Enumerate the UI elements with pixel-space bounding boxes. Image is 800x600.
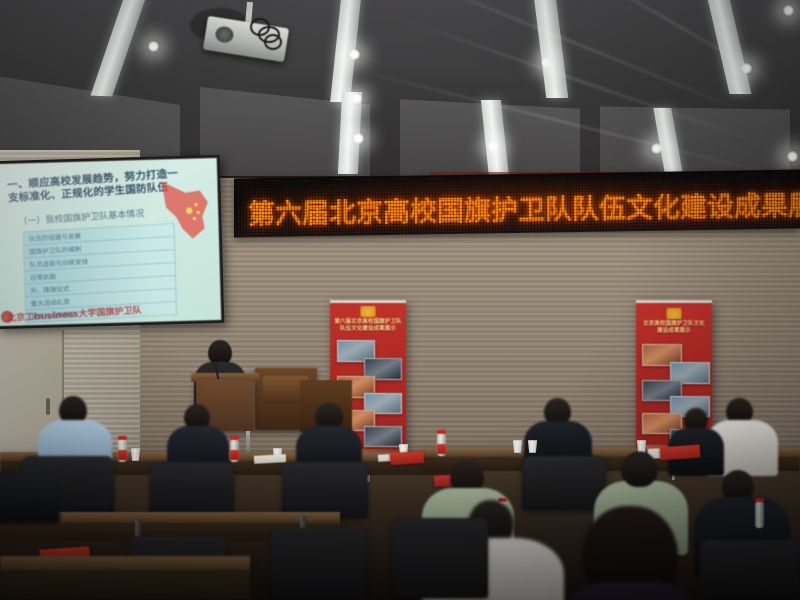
office-chair bbox=[522, 456, 606, 510]
ceiling-light-strip bbox=[534, 0, 569, 98]
person-head bbox=[622, 452, 657, 487]
banner-title: 北京高校国旗护卫队文化建设成果展示 bbox=[640, 321, 708, 335]
ceiling-downlight bbox=[348, 48, 361, 61]
conference-table-foreground bbox=[0, 556, 250, 572]
banner-top-rail bbox=[330, 300, 406, 303]
name-card bbox=[390, 451, 425, 465]
projection-screen-frame: 一、顺应高校发展趋势，努力打造一支标准化、正规化的学生国防队伍 （一）我校国旗护… bbox=[0, 155, 224, 329]
office-chair bbox=[150, 462, 234, 516]
office-chair bbox=[282, 462, 368, 518]
document-sheet bbox=[254, 454, 286, 464]
banner-emblem-icon bbox=[667, 308, 682, 319]
projector-lens bbox=[214, 25, 234, 44]
china-flag-map-icon bbox=[155, 176, 213, 244]
water-bottle bbox=[755, 502, 764, 528]
office-chair bbox=[392, 518, 488, 598]
ceiling-downlight bbox=[487, 140, 500, 153]
banner-emblem-icon bbox=[361, 306, 376, 317]
microphone-icon bbox=[212, 362, 218, 367]
bottle-label bbox=[230, 450, 239, 460]
ceiling-light-strip bbox=[90, 0, 147, 96]
ceiling-downlight bbox=[350, 92, 363, 105]
door-handle-icon[interactable] bbox=[46, 398, 50, 415]
bottle-label bbox=[118, 450, 127, 460]
slide-row-label: 日常执勤 bbox=[30, 271, 57, 282]
person-torso bbox=[0, 470, 60, 524]
name-card bbox=[660, 445, 701, 461]
banner-title: 第六届北京高校国旗护卫队队伍文化建设成果展示 bbox=[334, 319, 402, 333]
projector-cable bbox=[264, 34, 282, 50]
office-chair bbox=[270, 528, 366, 600]
led-banner: 第六届北京高校国旗护卫队队伍文化建设成果展示 bbox=[234, 170, 800, 238]
office-chair bbox=[700, 540, 800, 600]
projection-screen: 一、顺应高校发展趋势，努力打造一支标准化、正规化的学生国防队伍 （一）我校国旗护… bbox=[0, 158, 221, 326]
ceiling-downlight bbox=[782, 4, 795, 17]
ceiling-downlight bbox=[352, 132, 365, 145]
led-pixel-grid bbox=[234, 173, 800, 238]
ceiling-downlight bbox=[786, 150, 799, 163]
ceiling-downlight bbox=[147, 40, 160, 53]
banner-top-rail bbox=[636, 300, 712, 303]
conference-hall-photo: 第六届北京高校国旗护卫队队伍文化建设成果展示 一、顺应高校发展趋势，努力打造一支… bbox=[0, 0, 800, 600]
name-card-text bbox=[393, 454, 422, 456]
name-card-text bbox=[663, 448, 698, 450]
bottle-label bbox=[437, 444, 446, 454]
banner-photo bbox=[364, 426, 402, 447]
name-card-text bbox=[42, 549, 87, 552]
table-front-panel bbox=[0, 571, 250, 600]
